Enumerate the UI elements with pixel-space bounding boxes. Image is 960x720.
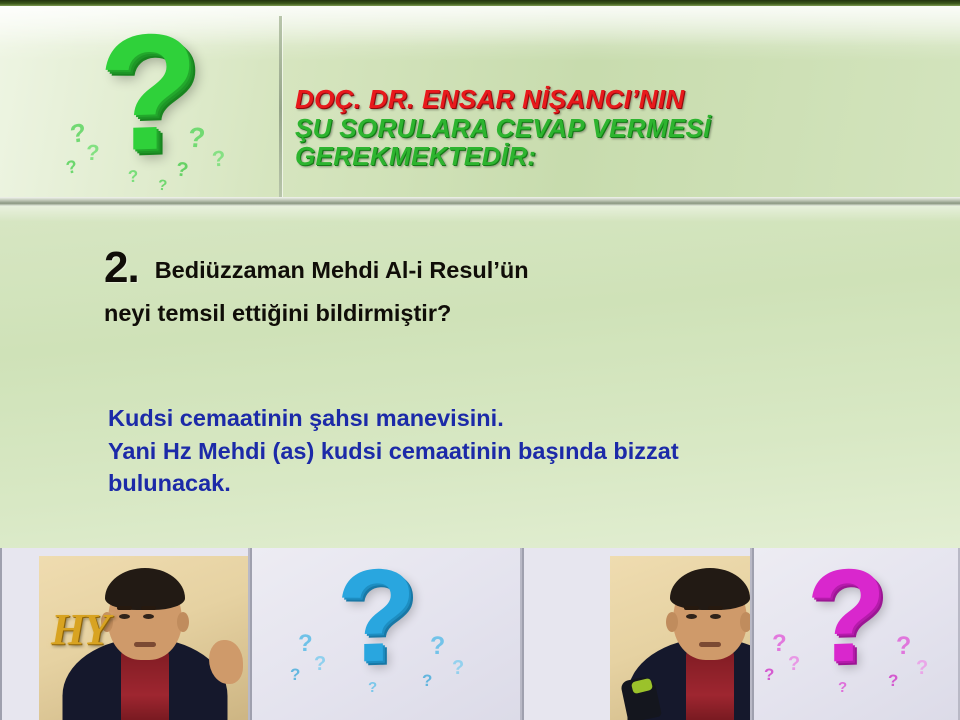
mini-question-mark-icon: ?	[85, 142, 100, 164]
question-mark-pink-graphic: ? ? ? ? ? ? ? ?	[754, 548, 958, 720]
question-block: 2.Bediüzzaman Mehdi Al-i Resul’ün neyi t…	[104, 246, 894, 327]
person-eye	[710, 614, 721, 619]
mini-question-mark-icon: ?	[916, 658, 928, 678]
panel-speaker-podium-right[interactable]	[522, 548, 752, 720]
person-mouth	[699, 642, 721, 647]
header-vertical-divider	[279, 16, 282, 201]
answer-line-1: Kudsi cemaatinin şahsı manevisini.	[108, 402, 908, 435]
mini-question-mark-icon: ?	[452, 658, 464, 678]
mini-question-mark-icon: ?	[290, 666, 300, 683]
person-ear	[177, 612, 189, 632]
person-mouth	[134, 642, 156, 647]
person-brow	[141, 606, 156, 610]
mini-question-mark-icon: ?	[211, 148, 226, 171]
person-eye	[143, 614, 154, 619]
hy-watermark-logo: HY	[51, 604, 108, 655]
microphone-stand	[618, 656, 678, 720]
video-thumbnail-left[interactable]: HY	[39, 556, 250, 720]
mini-question-mark-icon: ?	[69, 119, 88, 147]
mini-question-mark-icon: ?	[368, 680, 377, 695]
person-eye	[119, 614, 130, 619]
mini-question-mark-icon: ?	[422, 672, 432, 689]
question-mark-glyph: ?	[98, 8, 199, 177]
person-ear	[740, 612, 752, 632]
header-title: DOÇ. DR. ENSAR NİŞANCI’NIN ŞU SORULARA C…	[295, 86, 915, 172]
mini-question-mark-icon: ?	[430, 634, 445, 659]
green-question-mark-3d-icon: ? ? ? ? ? ? ? ? ?	[72, 20, 262, 200]
mini-question-mark-icon: ?	[896, 634, 911, 659]
question-text-line-1: Bediüzzaman Mehdi Al-i Resul’ün	[139, 257, 529, 283]
bottom-thumbnail-strip: HY ? ? ? ? ? ? ? ?	[0, 548, 960, 720]
question-mark-blue-graphic: ? ? ? ? ? ? ? ?	[252, 548, 520, 720]
mini-question-mark-icon: ?	[65, 157, 79, 177]
question-first-line: 2.Bediüzzaman Mehdi Al-i Resul’ün	[104, 246, 894, 290]
title-line-1: DOÇ. DR. ENSAR NİŞANCI’NIN	[295, 86, 927, 115]
person-brow	[117, 606, 132, 610]
mini-question-mark-icon: ?	[838, 680, 847, 695]
person-brow	[708, 606, 723, 610]
mini-question-mark-icon: ?	[157, 178, 167, 194]
person-eye	[686, 614, 697, 619]
question-number: 2.	[104, 243, 139, 292]
mini-question-mark-icon: ?	[764, 666, 774, 683]
question-mark-glyph: ?	[806, 549, 887, 684]
person-brow	[684, 606, 699, 610]
mini-question-mark-icon: ?	[772, 632, 787, 656]
slide-root: ? ? ? ? ? ? ? ? ? DOÇ. DR. ENSAR NİŞANCI…	[0, 0, 960, 720]
mini-question-mark-icon: ?	[888, 672, 898, 689]
question-text-line-2: neyi temsil ettiğini bildirmiştir?	[104, 300, 894, 327]
header-band: ? ? ? ? ? ? ? ? ? DOÇ. DR. ENSAR NİŞANCI…	[0, 6, 960, 203]
header-bottom-divider	[0, 197, 960, 206]
title-line-3: GEREKMEKTEDİR:	[295, 143, 927, 172]
panel-question-mark-pink[interactable]: ? ? ? ? ? ? ? ?	[752, 548, 960, 720]
mini-question-mark-icon: ?	[788, 654, 800, 674]
title-line-2: ŞU SORULARA CEVAP VERMESİ	[295, 115, 927, 144]
mini-question-mark-icon: ?	[128, 168, 139, 186]
answer-line-3: bulunacak.	[108, 467, 908, 500]
person-ear	[666, 612, 678, 632]
answer-line-2: Yani Hz Mehdi (as) kudsi cemaatinin başı…	[108, 435, 908, 468]
question-mark-glyph: ?	[336, 549, 417, 684]
answer-block: Kudsi cemaatinin şahsı manevisini. Yani …	[108, 402, 908, 500]
mini-question-mark-icon: ?	[187, 124, 207, 153]
mini-question-mark-icon: ?	[314, 654, 326, 674]
slide-body: 2.Bediüzzaman Mehdi Al-i Resul’ün neyi t…	[0, 206, 960, 548]
video-thumbnail-right[interactable]	[610, 556, 752, 720]
panel-speaker-interview-left[interactable]: HY	[0, 548, 250, 720]
mini-question-mark-icon: ?	[298, 632, 313, 656]
panel-question-mark-blue[interactable]: ? ? ? ? ? ? ? ?	[250, 548, 522, 720]
